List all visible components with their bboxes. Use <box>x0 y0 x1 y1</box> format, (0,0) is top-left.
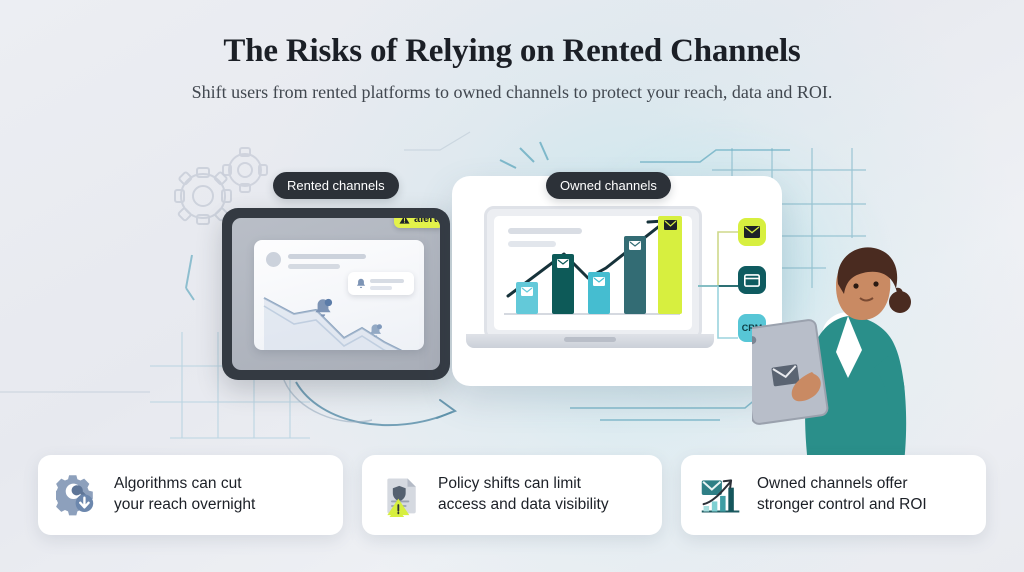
spark-lines <box>500 142 548 168</box>
rented-channels-label: Rented channels <box>273 172 399 199</box>
card-line-1: Algorithms can cut <box>114 474 255 495</box>
bar <box>516 282 538 314</box>
person-illustration <box>752 228 942 478</box>
eye <box>853 283 858 288</box>
card-line-2: access and data visibility <box>438 495 609 516</box>
tablet-screen: alert <box>232 218 440 370</box>
laptop-display <box>494 216 692 330</box>
card-text: Policy shifts can limit access and data … <box>438 474 609 516</box>
bar <box>658 216 682 314</box>
bell-icon <box>310 296 336 322</box>
card-line-1: Owned channels offer <box>757 474 927 495</box>
envelope-growth-chart-icon <box>699 473 743 517</box>
document-shield-warning-icon <box>380 473 424 517</box>
laptop-lid <box>484 206 702 340</box>
laptop-illustration <box>484 206 696 356</box>
gear-wrench-down-icon <box>56 473 100 517</box>
hair-bun <box>889 291 911 313</box>
declining-chart <box>258 284 424 350</box>
card-text: Algorithms can cut your reach overnight <box>114 474 255 516</box>
card-algorithms: Algorithms can cut your reach overnight <box>38 455 343 535</box>
card-line-2: your reach overnight <box>114 495 255 516</box>
avatar <box>266 252 281 267</box>
infographic-canvas: The Risks of Relying on Rented Channels … <box>0 0 1024 572</box>
declining-dashboard <box>254 240 424 350</box>
alert-badge: alert <box>394 218 440 228</box>
rented-channels-panel: alert <box>222 208 450 380</box>
page-title: The Risks of Relying on Rented Channels <box>0 32 1024 72</box>
gear-small-icon <box>223 148 267 192</box>
placeholder-line <box>288 254 366 259</box>
owned-channels-label: Owned channels <box>546 172 671 199</box>
flow-arrow <box>284 380 455 425</box>
owned-channels-panel: CRM <box>452 176 782 386</box>
tablet <box>752 319 828 425</box>
laptop-notch <box>564 337 616 342</box>
placeholder-line <box>288 264 340 269</box>
bell-icon <box>366 322 385 341</box>
growth-chart <box>494 216 690 330</box>
eye <box>873 281 878 286</box>
key-points-row: Algorithms can cut your reach overnight … <box>0 455 1024 540</box>
page-subtitle: Shift users from rented platforms to own… <box>0 81 1024 104</box>
gear-icon <box>175 168 231 224</box>
alert-badge-label: alert <box>414 218 437 225</box>
spark-lines-left <box>186 255 194 300</box>
card-text: Owned channels offer stronger control an… <box>757 474 927 516</box>
card-owned: Owned channels offer stronger control an… <box>681 455 986 535</box>
card-line-2: stronger control and ROI <box>757 495 927 516</box>
warning-triangle-icon <box>399 218 410 225</box>
card-line-1: Policy shifts can limit <box>438 474 609 495</box>
card-policy: Policy shifts can limit access and data … <box>362 455 662 535</box>
envelope-icon <box>521 241 641 296</box>
header: The Risks of Relying on Rented Channels … <box>0 32 1024 104</box>
